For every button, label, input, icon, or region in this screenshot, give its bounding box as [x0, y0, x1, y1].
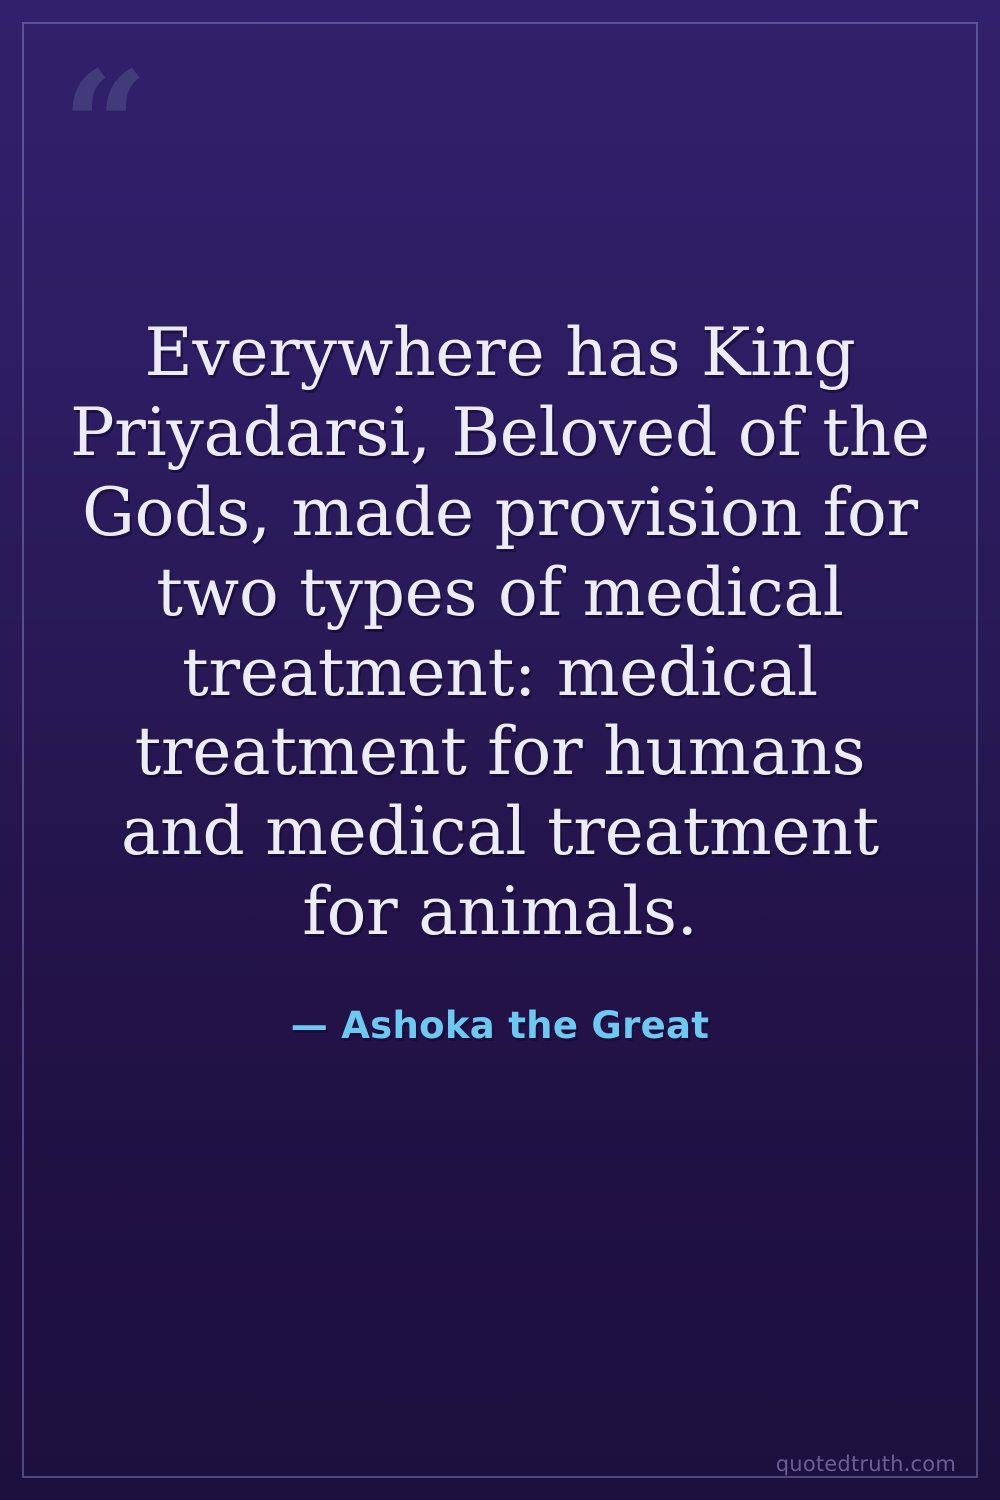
site-watermark: quotedtruth.com: [776, 1452, 956, 1476]
quote-content: Everywhere has King Priyadarsi, Beloved …: [0, 0, 1000, 1430]
quote-card: “ Everywhere has King Priyadarsi, Belove…: [0, 0, 1000, 1500]
quote-text: Everywhere has King Priyadarsi, Beloved …: [70, 313, 930, 952]
quote-attribution: — Ashoka the Great: [291, 1004, 710, 1047]
